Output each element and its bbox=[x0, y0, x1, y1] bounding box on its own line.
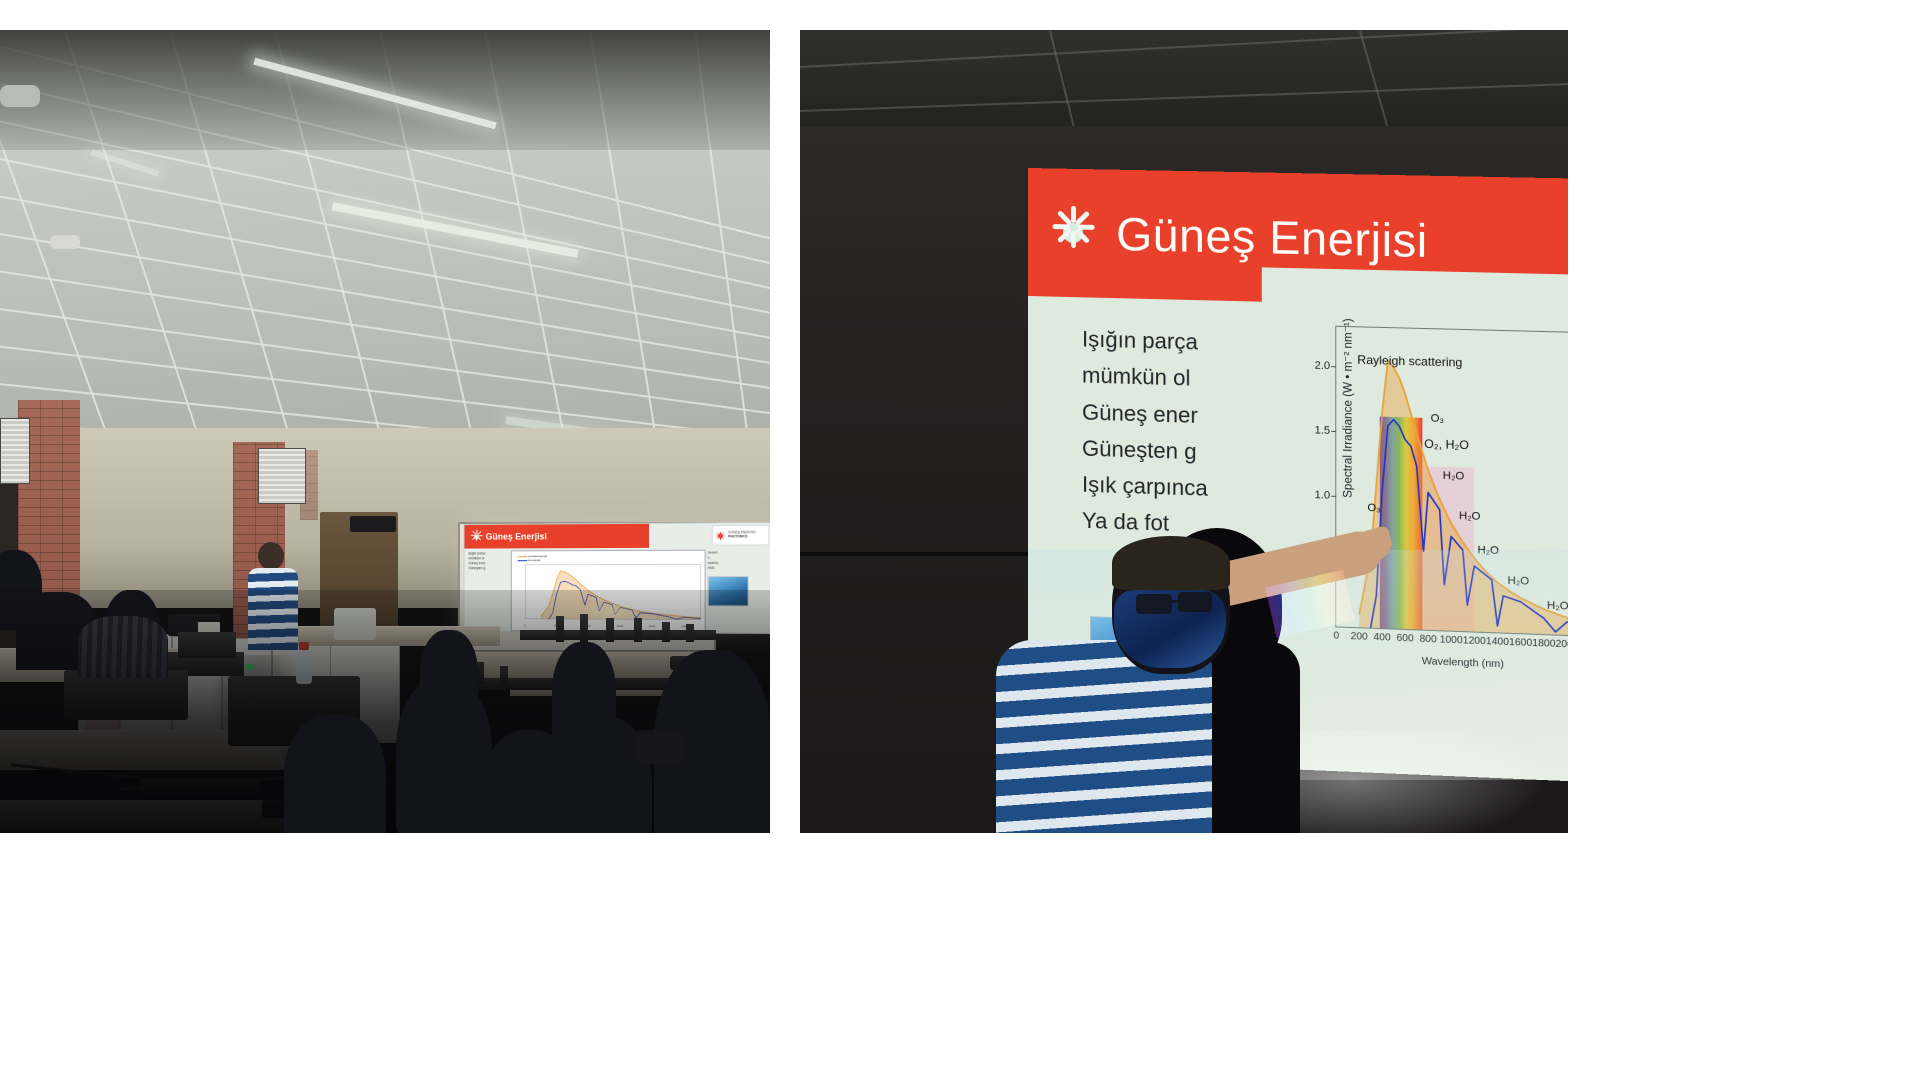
side-note: etkili, bbox=[708, 566, 765, 571]
chart-annotation: O₃ bbox=[1367, 501, 1380, 514]
chart-plot-area: 0.51.01.52.00200400600800100012001400160… bbox=[1335, 326, 1568, 637]
sprinkler-icon bbox=[0, 85, 40, 107]
logo-line2: PHOTONICS bbox=[728, 534, 747, 538]
chart-annotation: H₂O bbox=[1547, 599, 1568, 612]
chart-annotation: Rayleigh scattering bbox=[1357, 353, 1462, 370]
photonics-logo: GÜNEŞ ENERJİSİ PHOTONICS bbox=[712, 525, 770, 546]
sun-ray bbox=[1078, 225, 1095, 230]
ceiling-grid-line bbox=[0, 152, 770, 330]
ceiling-grid-line bbox=[800, 79, 1568, 112]
chart-annotation: H₂O bbox=[1459, 510, 1480, 523]
chart-annotation: H₂O bbox=[1508, 574, 1530, 587]
ceiling-grid-line bbox=[0, 228, 770, 379]
chart-annotation: H₂O bbox=[1443, 470, 1464, 483]
chart-x-tick: 1800 bbox=[1532, 638, 1555, 650]
bullet: Güneşten g bbox=[468, 566, 509, 571]
classroom-wide-photo: Güneş Enerjisi GÜNEŞ E bbox=[0, 30, 770, 833]
chart-x-tick: 1200 bbox=[1463, 635, 1486, 647]
chart-x-axis-label: Wavelength (nm) bbox=[1335, 652, 1568, 674]
smoke-detector-icon bbox=[50, 235, 80, 249]
slide-title-mini: Güneş Enerjisi bbox=[486, 531, 547, 541]
ceiling-grid-line bbox=[0, 304, 770, 427]
shelf-item bbox=[350, 516, 396, 532]
chart-x-tick: 200 bbox=[1351, 631, 1368, 643]
standing-person bbox=[258, 542, 284, 570]
slide-header-mini: Güneş Enerjisi bbox=[465, 524, 649, 549]
chart-x-tick: 2000 bbox=[1556, 639, 1568, 651]
chart-x-tick: 800 bbox=[1420, 634, 1437, 646]
chart-annotation: H₂O bbox=[1477, 544, 1499, 557]
bullet: Işık çarpınca bbox=[1082, 467, 1274, 510]
chair-back bbox=[634, 730, 684, 764]
seated-student bbox=[284, 714, 386, 833]
slide-bullets: Işığın parça mümkün ol Güneş ener Güneşt… bbox=[1082, 321, 1274, 546]
presenter-hair bbox=[1112, 536, 1230, 590]
chart-y-tick: 1.5 bbox=[1315, 424, 1331, 437]
chart-x-tick: 400 bbox=[1374, 632, 1391, 644]
chart-x-tick: 0 bbox=[1333, 630, 1339, 641]
sun-ray bbox=[1071, 231, 1076, 248]
ceiling-shadow bbox=[0, 30, 770, 150]
ceiling-grid-line bbox=[800, 30, 1568, 68]
sun-icon bbox=[1050, 209, 1096, 256]
bullet: Güneş ener bbox=[1082, 394, 1274, 436]
seated-student bbox=[396, 678, 492, 833]
bullet: Işığın parça bbox=[1082, 321, 1274, 363]
chart-x-tick: 600 bbox=[1397, 633, 1414, 645]
chart-x-tick: 1000 bbox=[1440, 634, 1463, 646]
slide-body-notch bbox=[1262, 267, 1568, 312]
chart-y-tick: 1.0 bbox=[1315, 489, 1331, 502]
chart-y-tick: 2.0 bbox=[1315, 359, 1331, 372]
window-blinds bbox=[258, 448, 306, 504]
glasses-left-lens bbox=[1136, 594, 1172, 614]
chart-annotation: O₂, H₂O bbox=[1424, 437, 1469, 453]
starburst-icon bbox=[715, 530, 726, 541]
presenter-closeup-photo: Güneş Enerjisi Işığın parça mümkün ol Gü… bbox=[800, 30, 1568, 833]
sun-icon bbox=[470, 531, 482, 543]
screenshot-stage: Güneş Enerjisi GÜNEŞ E bbox=[0, 0, 1920, 1080]
glasses-right-lens bbox=[1178, 592, 1212, 612]
chart-x-tick: 1400 bbox=[1486, 636, 1509, 648]
ceiling-grid-line bbox=[0, 266, 770, 403]
slide-title: Güneş Enerjisi bbox=[1116, 207, 1428, 268]
window-blinds bbox=[0, 418, 30, 484]
chart-x-tick: 1600 bbox=[1509, 637, 1532, 649]
chart-annotation: O₃ bbox=[1431, 412, 1444, 425]
sun-ray bbox=[1052, 224, 1069, 229]
glasses-bridge bbox=[1170, 600, 1180, 603]
bullet: Güneşten g bbox=[1082, 430, 1274, 472]
bullet: mümkün ol bbox=[1082, 358, 1274, 400]
